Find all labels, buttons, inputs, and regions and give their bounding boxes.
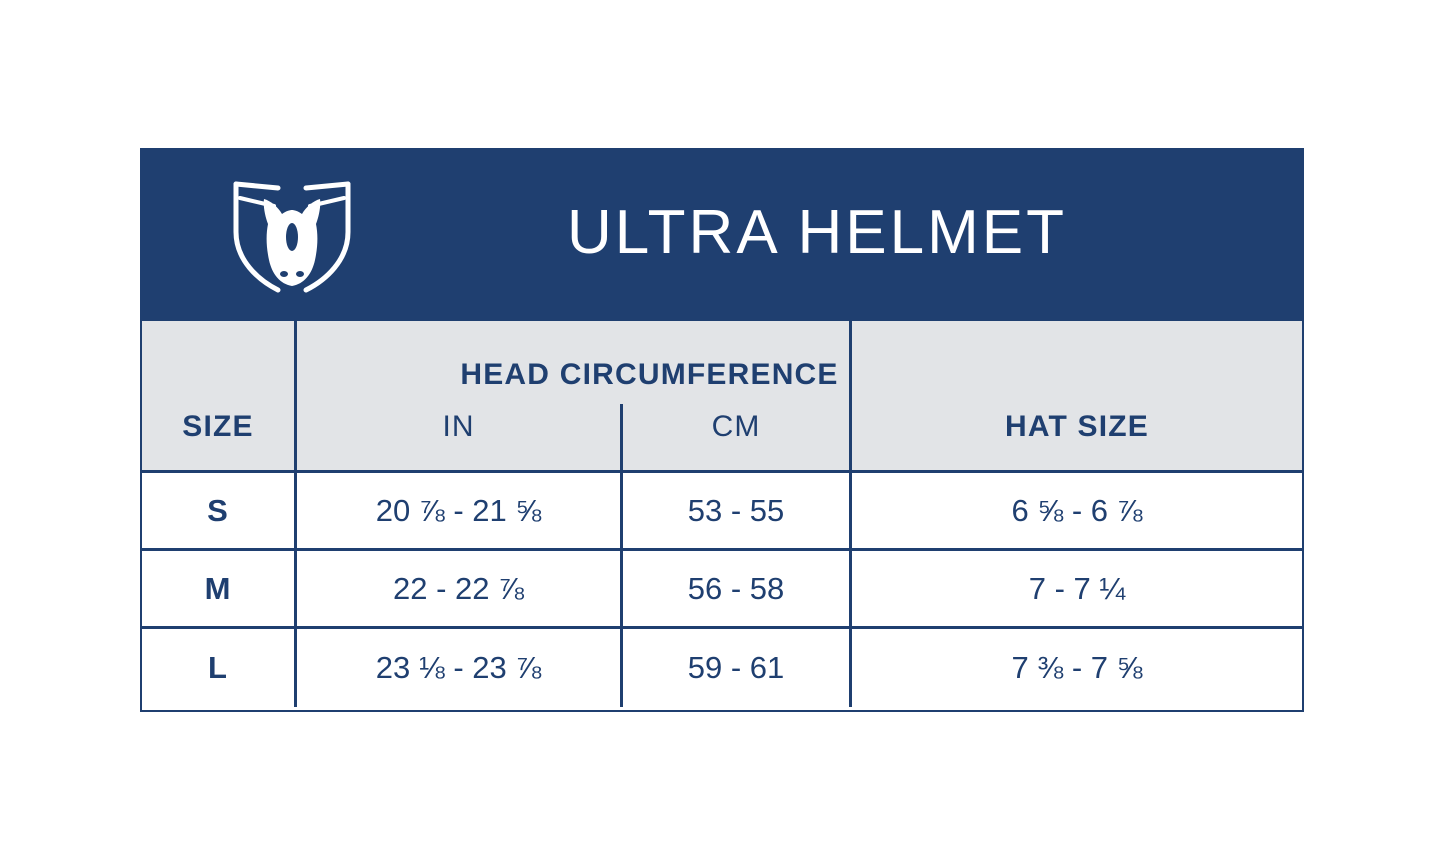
table-column-header: SIZE HEAD CIRCUMFERENCE IN CM HAT SIZE [142,318,1302,473]
cell-in: 20 ⅞ - 21 ⅝ [297,473,620,548]
cell-in: 23 ⅛ - 23 ⅞ [297,629,620,707]
cell-hat-size: 6 ⅝ - 6 ⅞ [852,473,1302,548]
cell-size: M [142,551,294,626]
table-row: S 20 ⅞ - 21 ⅝ 53 - 55 6 ⅝ - 6 ⅞ [142,473,1302,551]
column-header-cm-label: CM [712,410,761,470]
cell-in: 22 - 22 ⅞ [297,551,620,626]
column-header-size: SIZE [142,321,294,470]
column-header-in-label: IN [443,410,475,470]
size-chart-table: ULTRA HELMET SIZE HEAD CIRCUMFERENCE IN … [140,148,1304,712]
column-header-cm: CM [623,321,849,470]
cell-cm: 56 - 58 [623,551,849,626]
column-header-in: IN [297,321,620,470]
cell-hat-size: 7 - 7 ¼ [852,551,1302,626]
cell-size: S [142,473,294,548]
table-body: S 20 ⅞ - 21 ⅝ 53 - 55 6 ⅝ - 6 ⅞ M 22 - 2… [142,473,1302,707]
cell-cm: 53 - 55 [623,473,849,548]
cell-cm: 59 - 61 [623,629,849,707]
page-title: ULTRA HELMET [142,202,1302,264]
table-row: M 22 - 22 ⅞ 56 - 58 7 - 7 ¼ [142,551,1302,629]
column-header-hat-label: HAT SIZE [1005,410,1149,470]
column-header-hat-size: HAT SIZE [852,321,1302,470]
cell-size: L [142,629,294,707]
cell-hat-size: 7 ⅜ - 7 ⅝ [852,629,1302,707]
size-chart-page: ULTRA HELMET SIZE HEAD CIRCUMFERENCE IN … [0,0,1445,867]
chart-header-band: ULTRA HELMET [142,150,1302,318]
table-row: L 23 ⅛ - 23 ⅞ 59 - 61 7 ⅜ - 7 ⅝ [142,629,1302,707]
column-header-size-label: SIZE [182,410,253,470]
